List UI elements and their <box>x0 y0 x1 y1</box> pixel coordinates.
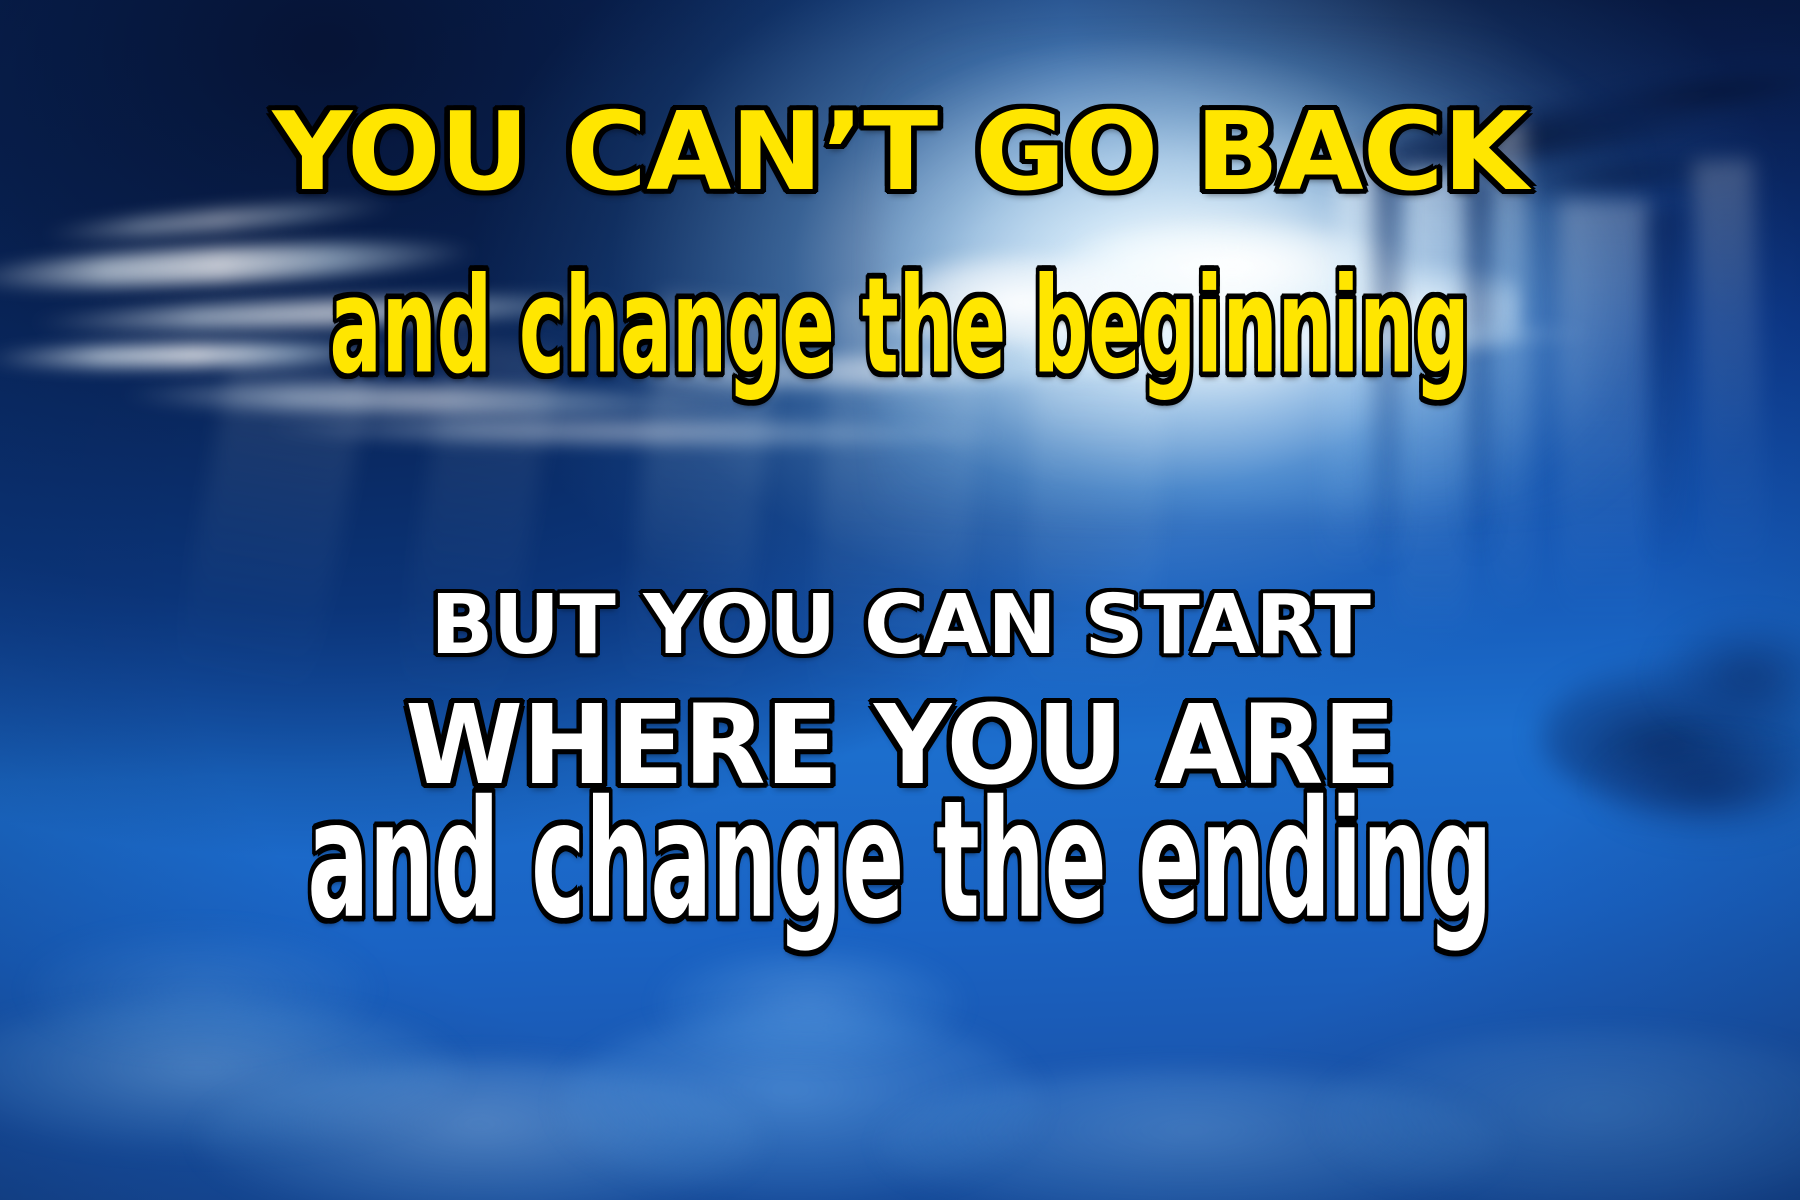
quote-line-5-text: and change the ending <box>307 780 1492 942</box>
quote-line-3-text: BUT YOU CAN START <box>430 585 1370 667</box>
quote-text-block: YOU CAN’T GO BACK and change the beginni… <box>0 0 1800 1200</box>
quote-poster: YOU CAN’T GO BACK and change the beginni… <box>0 0 1800 1200</box>
quote-line-2: and change the beginning <box>0 268 1800 385</box>
quote-line-1: YOU CAN’T GO BACK <box>0 98 1800 207</box>
quote-line-5: and change the ending <box>0 790 1800 932</box>
quote-line-3: BUT YOU CAN START <box>0 585 1800 667</box>
quote-line-2-text: and change the beginning <box>330 261 1470 393</box>
quote-line-1-text: YOU CAN’T GO BACK <box>272 99 1527 207</box>
